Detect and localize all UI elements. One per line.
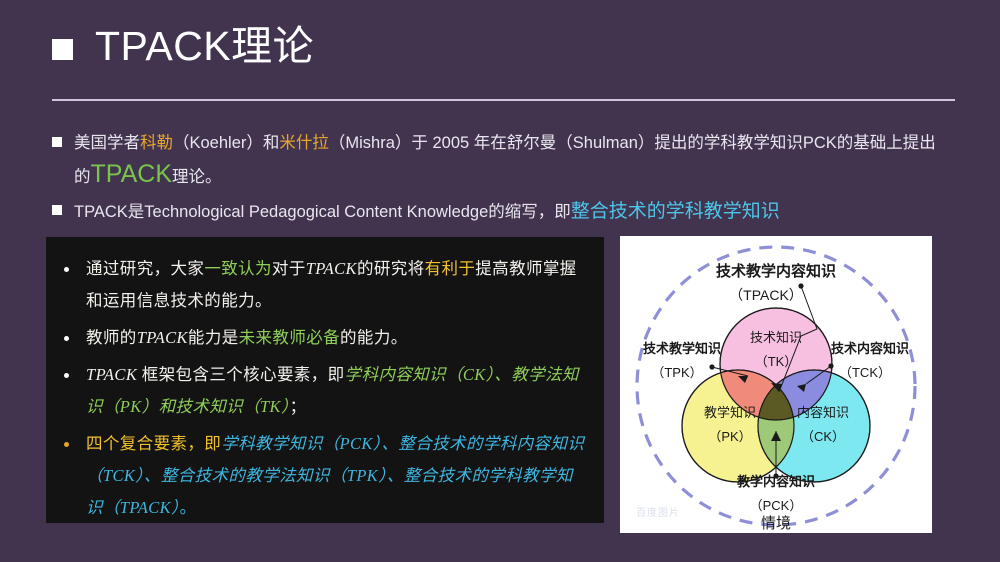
seg-plain: 的能力。: [340, 328, 408, 347]
seg-plain: 的研究将: [357, 259, 425, 278]
bullet-dot-icon: [64, 373, 69, 378]
seg-mishra-cn: 米什拉: [279, 134, 329, 152]
content-bullet-item-2: 教师的TPACK能力是未来教师必备的能力。: [64, 322, 588, 354]
page-title: TPACK理论: [52, 26, 314, 67]
header-bullet-item-2: TPACK是Technological Pedagogical Content …: [52, 196, 952, 228]
seg-plain: 美国学者: [74, 134, 140, 152]
label-pck-abbr: （PCK）: [750, 498, 803, 513]
seg-plain: TPACK是Technological Pedagogical Content …: [74, 203, 571, 221]
seg-benefit: 有利于: [425, 259, 476, 278]
content-bullet-text-4: 四个复合要素，即学科教学知识（PCK）、整合技术的学科内容知识（TCK）、整合技…: [86, 428, 588, 524]
content-bullet-item-4: 四个复合要素，即学科教学知识（PCK）、整合技术的学科内容知识（TCK）、整合技…: [64, 428, 588, 524]
content-bullet-text-3: TPACK 框架包含三个核心要素，即学科内容知识（CK）、教学法知识（PK）和技…: [86, 359, 588, 423]
label-tk-abbr: （TK）: [755, 354, 798, 369]
title-divider: [52, 99, 955, 101]
content-bullet-text-1: 通过研究，大家一致认为对于TPACK的研究将有利于提高教师掌握和运用信息技术的能…: [86, 253, 588, 317]
seg-plain: 对于: [272, 259, 306, 278]
seg-plain: ；: [290, 397, 307, 416]
header-bullet-item-1: 美国学者科勒（Koehler）和米什拉（Mishra）于 2005 年在舒尔曼（…: [52, 128, 952, 193]
content-bullet-item-3: TPACK 框架包含三个核心要素，即学科内容知识（CK）、教学法知识（PK）和技…: [64, 359, 588, 423]
content-bullet-text-2: 教师的TPACK能力是未来教师必备的能力。: [86, 322, 408, 354]
seg-koehler-cn: 科勒: [140, 134, 173, 152]
seg-tpack: TPACK: [137, 328, 188, 347]
label-ck-abbr: （CK）: [801, 429, 845, 444]
header-bullet-list: 美国学者科勒（Koehler）和米什拉（Mishra）于 2005 年在舒尔曼（…: [52, 128, 952, 231]
label-pck: 教学内容知识: [736, 474, 815, 489]
seg-plain: 通过研究，大家: [86, 259, 204, 278]
label-tck: 技术内容知识: [831, 341, 909, 356]
seg-tpack: TPACK: [91, 160, 173, 188]
label-pk: 教学知识: [704, 405, 756, 420]
content-bullet-item-1: 通过研究，大家一致认为对于TPACK的研究将有利于提高教师掌握和运用信息技术的能…: [64, 253, 588, 317]
bullet-dot-icon: [64, 267, 69, 272]
seg-tpack-cn: 整合技术的学科教学知识: [571, 201, 780, 222]
seg-consensus: 一致认为: [204, 259, 272, 278]
seg-tpack: TPACK: [306, 259, 357, 278]
title-bullet-square: [52, 39, 73, 60]
label-context: 情境: [761, 514, 791, 532]
seg-plain: 理论。: [172, 168, 222, 186]
content-box: 通过研究，大家一致认为对于TPACK的研究将有利于提高教师掌握和运用信息技术的能…: [46, 237, 604, 523]
seg-tpack: TPACK: [86, 365, 137, 384]
watermark: 百度图片: [636, 504, 680, 519]
label-tpk: 技术教学知识: [643, 341, 721, 356]
bullet-square-icon: [52, 137, 62, 147]
title-text: TPACK理论: [95, 26, 314, 67]
bullet-dot-icon: [64, 336, 69, 341]
seg-future-teacher: 未来教师必备: [239, 328, 340, 347]
label-tk: 技术知识: [750, 330, 802, 345]
seg-plain: 框架包含三个核心要素，即: [137, 365, 344, 384]
header-bullet-text-2: TPACK是Technological Pedagogical Content …: [74, 196, 780, 228]
bullet-dot-icon: [64, 442, 69, 447]
slide-root: TPACK理论 美国学者科勒（Koehler）和米什拉（Mishra）于 200…: [0, 0, 1000, 562]
diagram-title: 技术教学内容知识: [716, 262, 836, 280]
label-tpk-abbr: （TPK）: [651, 365, 702, 380]
seg-plain: 教师的: [86, 328, 137, 347]
header-bullet-text-1: 美国学者科勒（Koehler）和米什拉（Mishra）于 2005 年在舒尔曼（…: [74, 128, 952, 193]
label-pk-abbr: （PK）: [708, 429, 751, 444]
seg-plain: （Koehler）和: [173, 134, 279, 152]
label-ck: 内容知识: [797, 405, 849, 420]
seg-plain: 。: [180, 498, 197, 517]
seg-composite-elements: 四个复合要素，即: [86, 434, 221, 453]
seg-plain: 能力是: [188, 328, 239, 347]
label-tck-abbr: （TCK）: [839, 365, 891, 380]
tpack-venn-diagram: 技术教学内容知识 （TPACK） 技术教学知识 （TPK） 技术内容知识 （TC…: [620, 236, 932, 533]
diagram-title-abbr: （TPACK）: [729, 287, 803, 303]
bullet-square-icon: [52, 205, 62, 215]
